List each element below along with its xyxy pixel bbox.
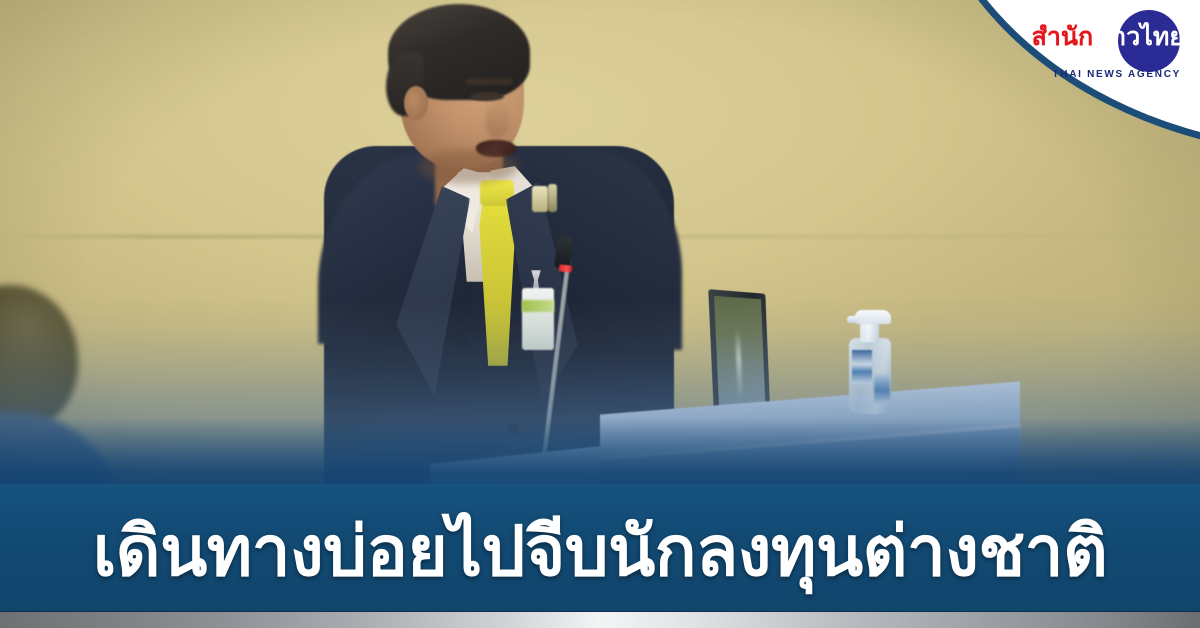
logo-word-red: สำนัก <box>1032 25 1094 50</box>
headline-text: เดินทางบ่อยไปจีบนักลงทุนต่างชาติ <box>0 517 1200 586</box>
thai-news-agency-logo[interactable]: สำนัก ข่าวไทย THAI NEWS AGENCY <box>1012 6 1194 86</box>
logo-corner: สำนัก ข่าวไทย THAI NEWS AGENCY <box>940 0 1200 170</box>
logo-word-white: ข่าวไทย <box>1095 25 1184 50</box>
footer-silver-bar <box>0 612 1200 628</box>
news-card: เดินทางบ่อยไปจีบนักลงทุนต่างชาติ สำนัก ข… <box>0 0 1200 628</box>
logo-wordmark: สำนัก ข่าวไทย <box>1032 25 1184 50</box>
logo-subtitle: THAI NEWS AGENCY <box>1053 69 1182 80</box>
